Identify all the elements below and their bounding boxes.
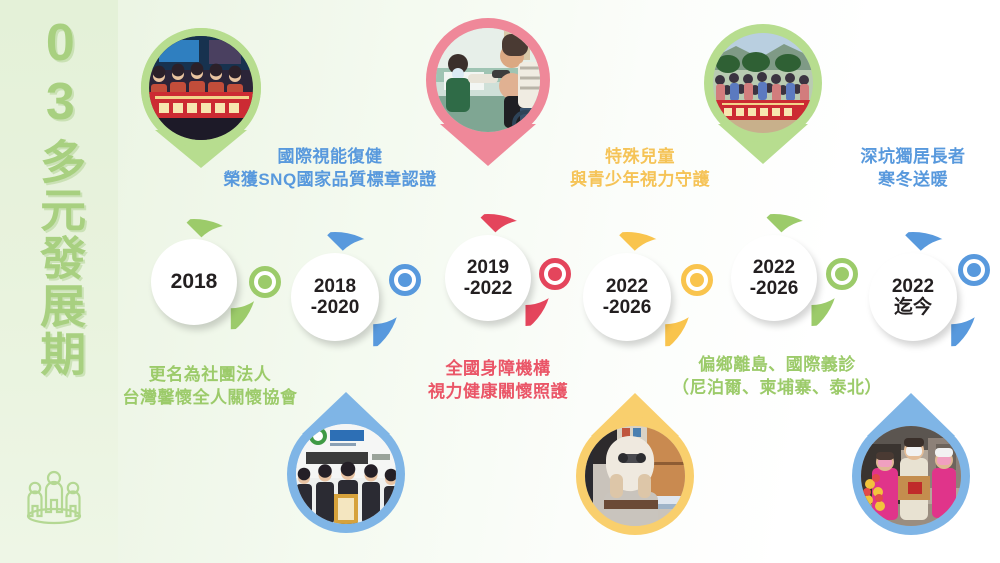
- timeline-node-2022-2026-b[interactable]: 2022 -2026: [710, 214, 838, 342]
- caption-line-2: 與青少年視力守護: [545, 169, 735, 192]
- connector-2: [389, 264, 421, 296]
- ring-label: 2022 -2026: [731, 235, 817, 321]
- caption-children-vision: 特殊兒童 與青少年視力守護: [545, 146, 735, 192]
- three-people-icon: [18, 462, 90, 526]
- connector-dot: [835, 267, 849, 281]
- ring-label: 2022 迄今: [869, 253, 957, 341]
- caption-line-2: 榮獲SNQ國家品質標章認證: [206, 169, 454, 192]
- caption-line-1: 全國身障機構: [398, 358, 598, 381]
- caption-line-1: 國際視能復健: [206, 146, 454, 169]
- connector-4: [681, 264, 713, 296]
- ring-year-line-2: -2026: [603, 297, 652, 318]
- caption-line-2: 寒冬送暖: [838, 169, 988, 192]
- photo-child-scope: [560, 388, 710, 540]
- connector-dot: [967, 263, 981, 277]
- section-number: 03: [33, 14, 88, 132]
- photo-gift-delivery: [836, 388, 986, 540]
- ring-year-line-1: 2022: [892, 276, 934, 297]
- caption-line-1: 特殊兒童: [545, 146, 735, 169]
- connector-dot: [548, 267, 562, 281]
- ring-year-line-2: -2026: [750, 278, 799, 299]
- ring-year-line-2: -2022: [464, 278, 513, 299]
- ring-label: 2022 -2026: [583, 253, 671, 341]
- ring-label: 2019 -2022: [445, 235, 531, 321]
- caption-elderly-winter: 深坑獨居長者 寒冬送暖: [838, 146, 988, 192]
- connector-dot: [690, 273, 704, 287]
- photo-snq-award: [272, 388, 420, 538]
- ring-label: 2018 -2020: [291, 253, 379, 341]
- timeline-node-2022-present[interactable]: 2022 迄今: [848, 232, 978, 362]
- caption-snq: 國際視能復健 榮獲SNQ國家品質標章認證: [206, 146, 454, 192]
- caption-line-1: 更名為社團法人: [100, 364, 320, 387]
- ring-label: 2018: [151, 239, 237, 325]
- timeline-node-2022-2026-a[interactable]: 2022 -2026: [562, 232, 692, 362]
- ring-year-line-1: 2022: [753, 257, 795, 278]
- section-title: 多元發展期: [36, 138, 84, 378]
- timeline-node-2019-2022[interactable]: 2019 -2022: [424, 214, 552, 342]
- ring-year-line-2: -2020: [311, 297, 360, 318]
- caption-line-1: 深坑獨居長者: [838, 146, 988, 169]
- slide-canvas: 03 多元發展期: [0, 0, 1000, 563]
- caption-line-1: 偏鄉離島、國際義診: [657, 354, 897, 377]
- section-band: 03 多元發展期: [0, 0, 118, 563]
- timeline-node-2018[interactable]: 2018: [131, 219, 257, 345]
- ring-year-line-1: 2018: [171, 270, 218, 294]
- connector-dot: [398, 273, 412, 287]
- section-title-block: 03 多元發展期: [14, 14, 106, 444]
- timeline-node-2018-2020[interactable]: 2018 -2020: [270, 232, 400, 362]
- connector-6: [958, 254, 990, 286]
- ring-year-line-2: 迄今: [894, 297, 932, 318]
- ring-year-line-1: 2018: [314, 276, 356, 297]
- ring-year-line-1: 2019: [467, 257, 509, 278]
- ring-year-line-1: 2022: [606, 276, 648, 297]
